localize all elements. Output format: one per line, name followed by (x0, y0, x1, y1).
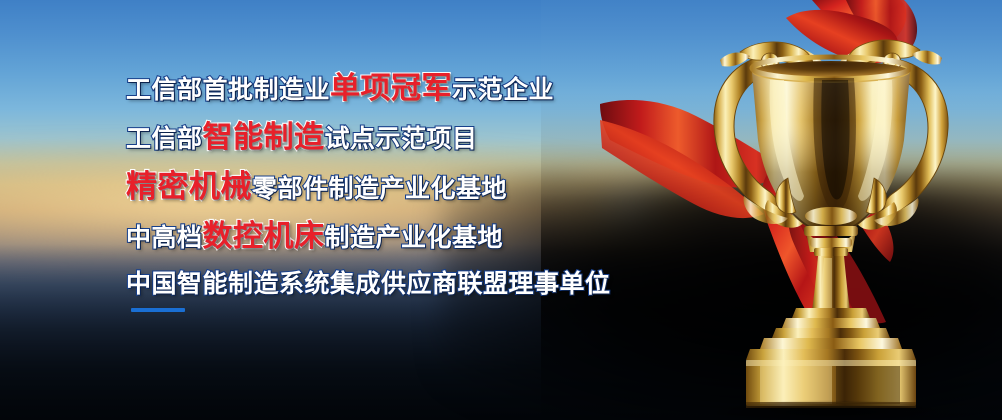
headline-line-5: 中国智能制造系统集成供应商联盟理事单位 (126, 271, 686, 296)
headline-4-seg-1: 中高档 (126, 223, 203, 252)
headline-3-seg-2: 零部件制造产业化基地 (252, 174, 507, 203)
headline-4-seg-3: 制造产业化基地 (325, 223, 504, 252)
headline-list: 工信部首批制造业单项冠军示范企业 工信部智能制造试点示范项目 精密机械零部件制造… (126, 74, 686, 296)
headline-2-seg-2: 智能制造 (203, 120, 325, 155)
trophy-base (746, 308, 916, 408)
awards-banner: 工信部首批制造业单项冠军示范企业 工信部智能制造试点示范项目 精密机械零部件制造… (0, 0, 1002, 420)
headline-line-1: 工信部首批制造业单项冠军示范企业 (126, 74, 686, 104)
headline-line-3: 精密机械零部件制造产业化基地 (126, 172, 686, 203)
accent-underline-bar (131, 308, 185, 312)
headline-5-seg-1: 中国智能制造系统集成供应商联盟理事单位 (126, 269, 611, 298)
headline-4-seg-2: 数控机床 (203, 219, 325, 254)
headline-1-seg-3: 示范企业 (452, 75, 554, 104)
headline-2-seg-3: 试点示范项目 (325, 124, 478, 153)
headline-line-2: 工信部智能制造试点示范项目 (126, 123, 686, 153)
headline-1-seg-2: 单项冠军 (330, 71, 452, 106)
headline-line-4: 中高档数控机床制造产业化基地 (126, 222, 686, 252)
headline-1-seg-1: 工信部首批制造业 (126, 75, 330, 104)
headline-3-seg-1: 精密机械 (126, 169, 252, 205)
headline-2-seg-1: 工信部 (126, 124, 203, 153)
